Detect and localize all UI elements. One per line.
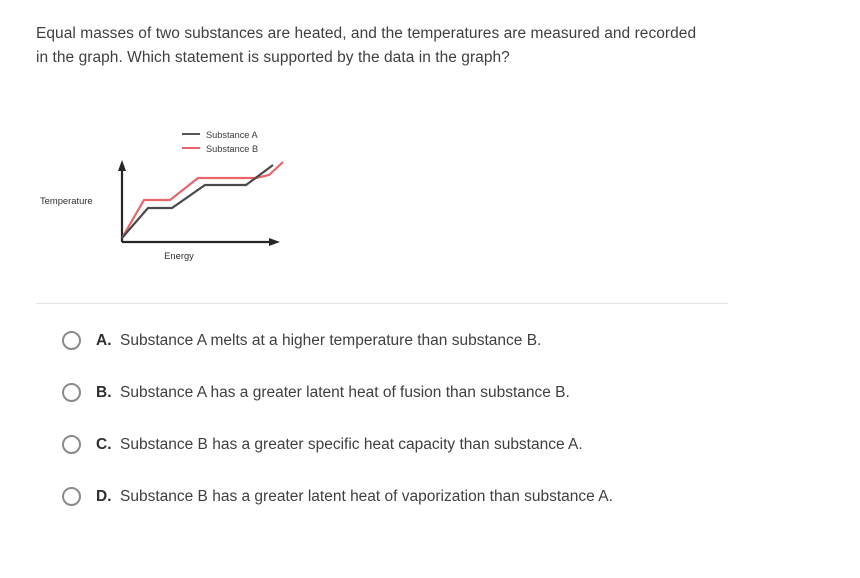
option-letter-b: B. (96, 382, 120, 404)
x-axis-arrowhead (269, 238, 280, 246)
option-letter-d: D. (96, 486, 120, 508)
question-stem: Equal masses of two substances are heate… (36, 22, 708, 70)
legend-label-substance-a: Substance A (206, 130, 258, 140)
option-a[interactable]: A. Substance A melts at a higher tempera… (62, 330, 762, 360)
radio-button-b[interactable] (62, 383, 81, 402)
x-axis-label: Energy (164, 250, 194, 261)
radio-button-d[interactable] (62, 487, 81, 506)
section-divider (36, 303, 728, 304)
heating-curve-figure: Substance A Substance B Temperature Ener… (30, 115, 330, 275)
heating-curve-svg: Substance A Substance B Temperature Ener… (30, 115, 330, 275)
radio-button-a[interactable] (62, 331, 81, 350)
option-b[interactable]: B. Substance A has a greater latent heat… (62, 382, 762, 412)
option-d[interactable]: D. Substance B has a greater latent heat… (62, 486, 762, 516)
option-text-c: Substance B has a greater specific heat … (120, 434, 715, 456)
option-text-b: Substance A has a greater latent heat of… (120, 382, 715, 404)
option-c[interactable]: C. Substance B has a greater specific he… (62, 434, 762, 464)
legend-label-substance-b: Substance B (206, 144, 258, 154)
curve-substance-a (122, 165, 273, 238)
option-text-a: Substance A melts at a higher temperatur… (120, 330, 715, 352)
radio-button-c[interactable] (62, 435, 81, 454)
y-axis-label: Temperature (40, 195, 93, 206)
curve-substance-b (122, 162, 283, 238)
option-letter-c: C. (96, 434, 120, 456)
answer-options-list: A. Substance A melts at a higher tempera… (62, 330, 762, 538)
option-text-d: Substance B has a greater latent heat of… (120, 486, 715, 508)
option-letter-a: A. (96, 330, 120, 352)
y-axis-arrowhead (118, 160, 126, 171)
chart-legend: Substance A Substance B (182, 130, 258, 154)
